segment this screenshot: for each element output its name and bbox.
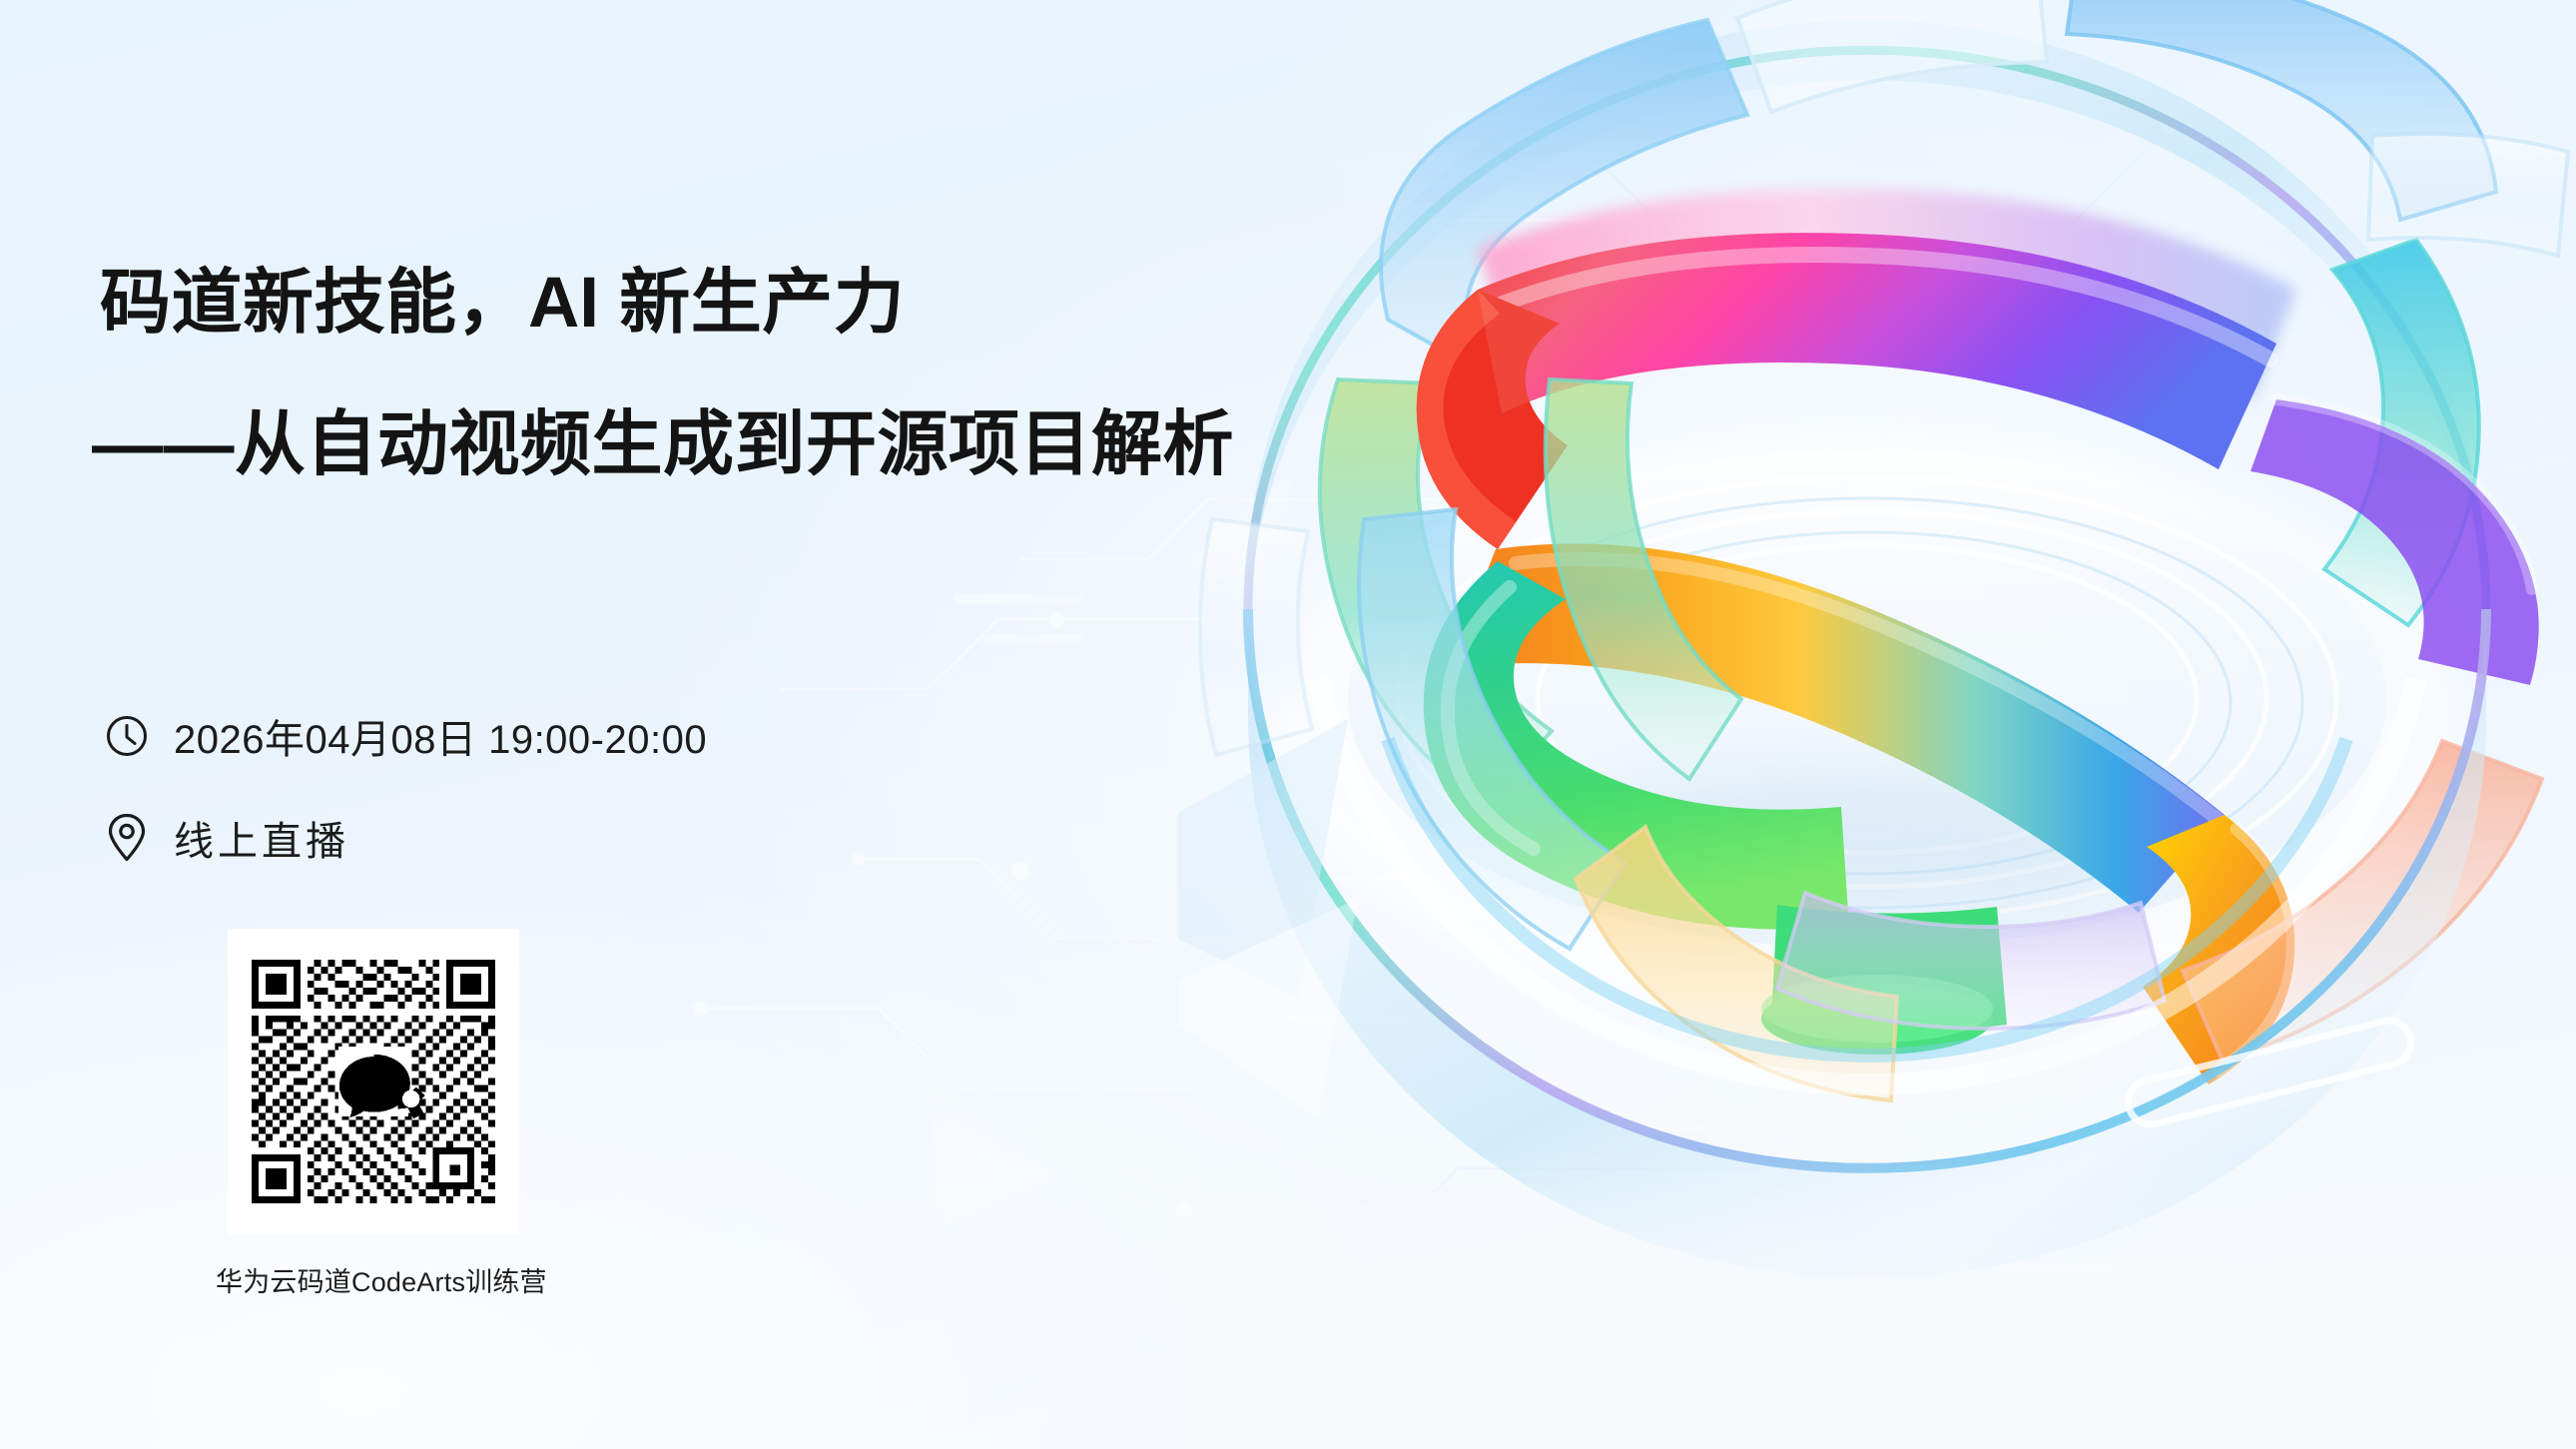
page-subtitle: ——从自动视频生成到开源项目解析 bbox=[92, 409, 1234, 480]
event-place-text: 线上直播 bbox=[174, 809, 349, 867]
clock-icon bbox=[104, 713, 150, 759]
qr-caption: 华为云码道CodeArts训练营 bbox=[216, 1260, 507, 1299]
page-title-ai: AI bbox=[528, 264, 599, 343]
qr-block: 华为云码道CodeArts训练营 bbox=[228, 929, 519, 1299]
event-meta: 2026年04月08日 19:00-20:00 线上直播 bbox=[104, 699, 707, 875]
event-place-row: 线上直播 bbox=[104, 801, 707, 875]
promo-banner: 码道新技能，AI 新生产力 ——从自动视频生成到开源项目解析 2026年04月0… bbox=[0, 0, 2576, 1449]
event-time-text: 2026年04月08日 19:00-20:00 bbox=[174, 707, 707, 765]
page-title-cn: 码道新技能， bbox=[100, 264, 528, 343]
map-pin-icon bbox=[104, 815, 150, 861]
page-title: 码道新技能，AI 新生产力 bbox=[100, 268, 905, 339]
event-time-row: 2026年04月08日 19:00-20:00 bbox=[104, 699, 707, 773]
qr-code[interactable] bbox=[228, 929, 519, 1234]
page-title-cn2: 新生产力 bbox=[599, 264, 905, 343]
banner-content: 码道新技能，AI 新生产力 ——从自动视频生成到开源项目解析 2026年04月0… bbox=[100, 0, 1418, 1449]
